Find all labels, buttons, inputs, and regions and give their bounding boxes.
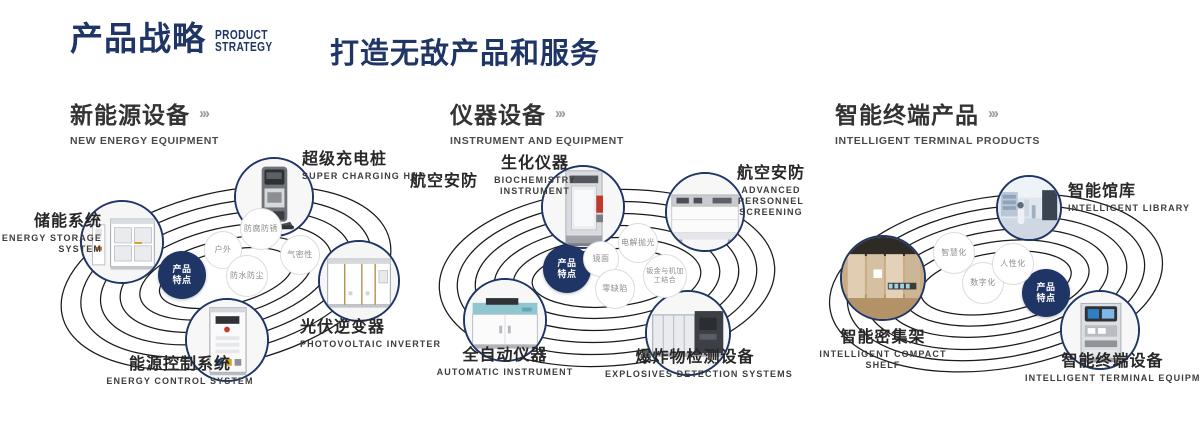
- page-title-english-line2: STRATEGY: [215, 41, 273, 53]
- section-title-cn: 仪器设备: [450, 96, 546, 130]
- label-en: INTELLIGENT COMPACT SHELF: [808, 349, 958, 371]
- node-compact-shelf[interactable]: [840, 235, 926, 321]
- page-title-english: PRODUCT STRATEGY: [215, 29, 273, 53]
- label-cn: 智能馆库: [1068, 182, 1190, 201]
- diagram-instrument: 产品 特点 镜面 电解抛光 零缺陷 钣金与机加工结合 航空安防 生化仪器 BIO…: [415, 150, 805, 415]
- label-biochemistry-instrument: 生化仪器 BIOCHEMISTRY INSTRUMENT: [470, 154, 600, 197]
- core-badge-line1: 产品: [557, 258, 576, 269]
- chevron-right-icon: ›››: [555, 105, 564, 122]
- page-header: 产品战略 PRODUCT STRATEGY: [70, 22, 289, 55]
- label-charging-pile: 超级充电桩 SUPER CHARGING HUB: [302, 150, 426, 182]
- label-cn: 智能密集架: [808, 328, 958, 347]
- label-cn: 航空安防: [410, 172, 478, 191]
- label-energy-storage: 储能系统 ENERGY STORAGE SYSTEM: [0, 212, 102, 255]
- section-title-en: NEW ENERGY EQUIPMENT: [70, 135, 219, 147]
- diagram-intelligent-terminal: 产品 特点 智慧化 数字化 人性化 智能馆库 INTELLIGENT LIBRA…: [800, 150, 1200, 415]
- node-intelligent-library[interactable]: [996, 175, 1062, 241]
- label-cn: 超级充电桩: [302, 150, 426, 169]
- section-title-en: INTELLIGENT TERMINAL PRODUCTS: [835, 135, 1040, 147]
- feature-bubble: 防水防尘: [226, 255, 268, 297]
- label-cn: 能源控制系统: [80, 355, 280, 374]
- feature-bubble: 气密性: [280, 235, 320, 275]
- feature-bubble: 防腐防锈: [240, 208, 282, 250]
- label-automatic-instrument: 全自动仪器 AUTOMATIC INSTRUMENT: [425, 346, 585, 378]
- label-cn: 智能终端设备: [1025, 352, 1200, 371]
- feature-bubble: 零缺陷: [595, 269, 635, 309]
- page-title: 产品战略: [70, 22, 206, 55]
- product-strategy-page: 产品战略 PRODUCT STRATEGY 打造无敌产品和服务 新能源设备›››…: [0, 0, 1200, 422]
- compact-shelf-icon: [842, 237, 924, 319]
- core-badge-line1: 产品: [172, 264, 191, 275]
- label-compact-shelf: 智能密集架 INTELLIGENT COMPACT SHELF: [808, 328, 958, 371]
- label-explosives-detection: 爆炸物检测设备 EXPLOSIVES DETECTION SYSTEMS: [605, 348, 785, 380]
- core-badge-line1: 产品: [1036, 282, 1055, 293]
- label-cn: 生化仪器: [470, 154, 600, 173]
- label-en: AUTOMATIC INSTRUMENT: [425, 367, 585, 378]
- label-cn: 储能系统: [0, 212, 102, 231]
- page-headline: 打造无敌产品和服务: [330, 30, 600, 72]
- label-en: BIOCHEMISTRY INSTRUMENT: [470, 175, 600, 197]
- section-title-cn: 新能源设备: [70, 96, 190, 130]
- label-en: ENERGY STORAGE SYSTEM: [0, 233, 102, 255]
- library-hall-icon: [998, 177, 1060, 239]
- diagram-new-energy: 产品 特点 户外 防腐防锈 防水防尘 气密性 储能系统 ENERGY STORA…: [30, 150, 420, 415]
- section-title-intelligent-terminal: 智能终端产品››› INTELLIGENT TERMINAL PRODUCTS: [835, 96, 1040, 147]
- core-badge-line2: 特点: [1036, 293, 1055, 304]
- node-pv-inverter[interactable]: [318, 240, 400, 322]
- section-title-new-energy: 新能源设备››› NEW ENERGY EQUIPMENT: [70, 96, 219, 147]
- feature-bubble: 钣金与机加工结合: [643, 254, 687, 298]
- section-title-instrument: 仪器设备››› INSTRUMENT AND EQUIPMENT: [450, 96, 624, 147]
- core-badge-line2: 特点: [172, 275, 191, 286]
- label-en: ENERGY CONTROL SYSTEM: [80, 376, 280, 387]
- label-en: EXPLOSIVES DETECTION SYSTEMS: [605, 369, 785, 380]
- pv-inverter-cabinet-icon: [320, 242, 398, 320]
- label-en: SUPER CHARGING HUB: [302, 171, 426, 182]
- label-cn: 全自动仪器: [425, 346, 585, 365]
- label-en: INTELLIGENT TERMINAL EQUIPMENT: [1025, 373, 1200, 384]
- chevron-right-icon: ›››: [199, 105, 208, 122]
- section-title-cn: 智能终端产品: [835, 96, 979, 130]
- label-intelligent-library: 智能馆库 INTELLIGENT LIBRARY: [1068, 182, 1190, 214]
- label-cn: 爆炸物检测设备: [605, 348, 785, 367]
- label-energy-control: 能源控制系统 ENERGY CONTROL SYSTEM: [80, 355, 280, 387]
- core-badge-line2: 特点: [557, 269, 576, 280]
- core-badge-product-features: 产品 特点: [158, 251, 206, 299]
- label-en: INTELLIGENT LIBRARY: [1068, 203, 1190, 214]
- chevron-right-icon: ›››: [988, 105, 997, 122]
- section-title-en: INSTRUMENT AND EQUIPMENT: [450, 135, 624, 147]
- label-aviation-security-left: 航空安防: [410, 172, 478, 191]
- feature-bubble: 人性化: [992, 243, 1034, 285]
- label-terminal-equipment: 智能终端设备 INTELLIGENT TERMINAL EQUIPMENT: [1025, 352, 1200, 384]
